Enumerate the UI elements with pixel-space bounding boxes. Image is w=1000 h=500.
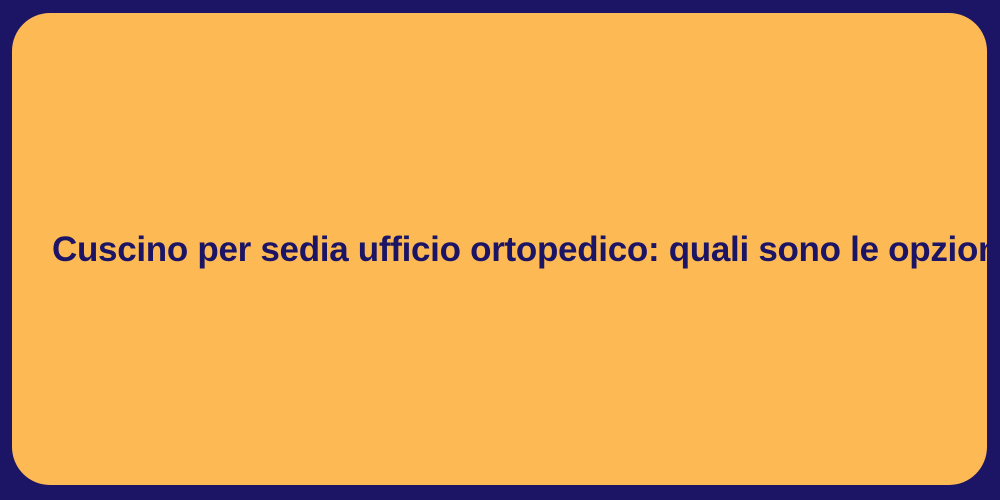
content-card: Cuscino per sedia ufficio ortopedico: qu… — [12, 13, 987, 485]
banner-root: Cuscino per sedia ufficio ortopedico: qu… — [0, 0, 1000, 500]
page-title: Cuscino per sedia ufficio ortopedico: qu… — [12, 228, 987, 272]
